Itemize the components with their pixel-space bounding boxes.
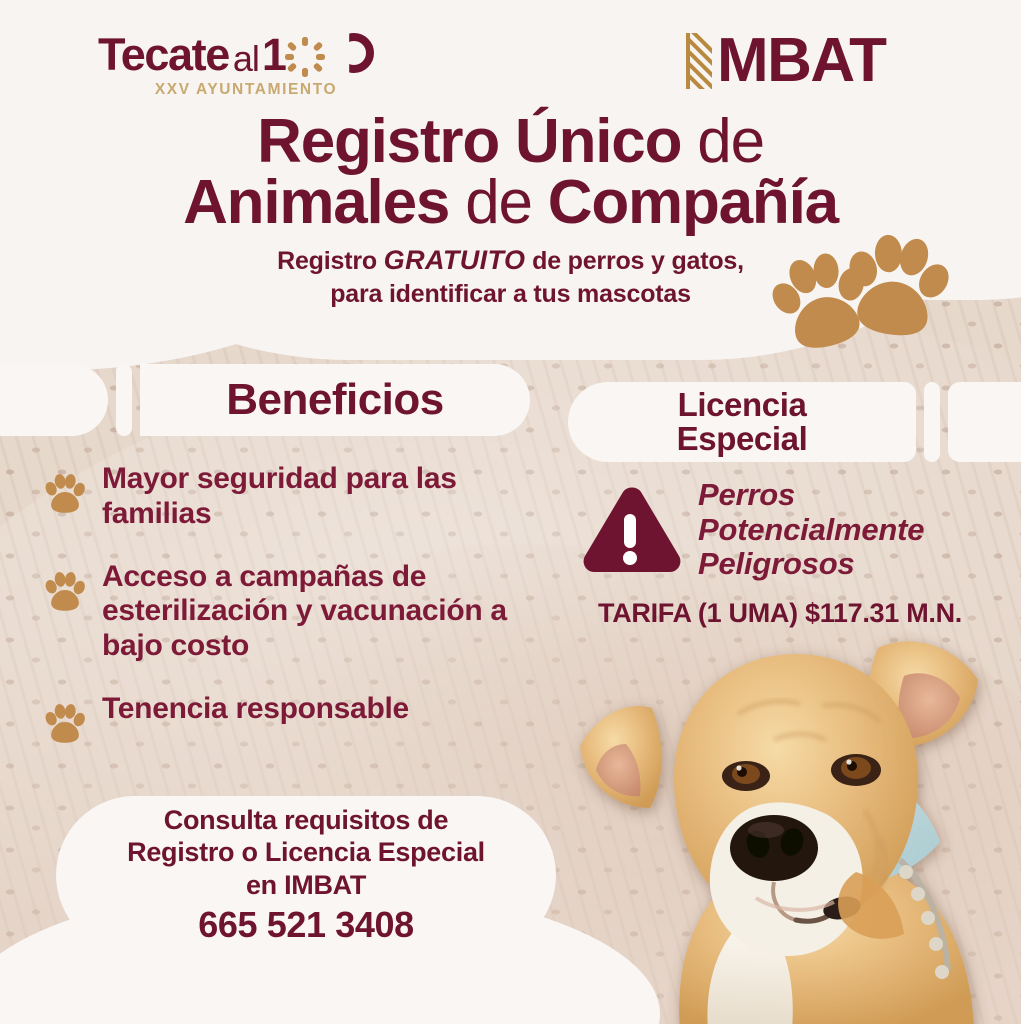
contact-line3: en IMBAT [246, 869, 366, 901]
headline-line2-bold-a: Animales [183, 168, 449, 237]
contact-phone[interactable]: 665 521 3408 [198, 904, 413, 946]
tecate-logo-subtitle: XXV AYUNTAMIENTO [98, 81, 368, 99]
imbat-logo-text: MBAT [717, 30, 885, 92]
beneficios-band-segment-1 [0, 364, 108, 436]
contact-line3-strong: IMBAT [284, 870, 366, 900]
poster-root: Tecate al 1 XX [0, 0, 1021, 1024]
licencia-band-segment-2 [924, 382, 940, 462]
license-heading-line1: Perros [698, 477, 795, 512]
paw-print-icon [44, 568, 86, 612]
headline-line2-light: de [465, 168, 532, 237]
licencia-title-line2: Especial [677, 422, 808, 456]
list-item: Tenencia responsable [44, 692, 544, 744]
imbat-logo: MBAT [686, 26, 885, 96]
contact-card[interactable]: Consulta requisitos de Registro o Licenc… [56, 796, 556, 954]
headline-line1-light: de [697, 107, 764, 176]
contact-line2: Registro o Licencia Especial [127, 836, 485, 868]
benefits-list: Mayor seguridad para las familias Acceso… [44, 462, 544, 772]
page-subtitle: Registro GRATUITO de perros y gatos, par… [0, 243, 1021, 310]
contact-line3-pre: en [246, 870, 277, 900]
beneficios-band-segment-2 [116, 364, 132, 436]
subtitle-post: de perros y gatos, [532, 247, 744, 275]
licencia-title: Licencia Especial [568, 382, 916, 462]
warning-triangle-icon [576, 484, 684, 586]
list-item: Mayor seguridad para las familias [44, 462, 544, 532]
licencia-title-line1: Licencia [678, 388, 807, 422]
tecate-logo-word: Tecate [98, 32, 229, 77]
sun-burst-icon [283, 35, 327, 79]
paw-print-icon [44, 700, 86, 744]
subtitle-pre: Registro [277, 247, 377, 275]
list-item: Acceso a campañas de esterilización y va… [44, 560, 544, 664]
beneficios-title: Beneficios [140, 364, 530, 436]
licencia-band-segment-3 [948, 382, 1021, 462]
page-title: Registro Único de Animales de Compañía [0, 112, 1021, 234]
tecate-logo-al: al [233, 41, 259, 77]
headline-line1-bold: Registro Único [257, 107, 681, 176]
benefit-text: Acceso a campañas de esterilización y va… [102, 560, 544, 664]
paw-print-icon [44, 470, 86, 514]
tecate-logo: Tecate al 1 XX [98, 32, 368, 107]
license-heading: Perros Potencialmente Peligrosos [698, 478, 924, 582]
benefit-text: Tenencia responsable [102, 692, 409, 727]
tecate-logo-one: 1 [262, 32, 285, 77]
headline-line2-bold-b: Compañía [548, 168, 838, 237]
tecate-logo-arc [334, 33, 374, 73]
subtitle-line2: para identificar a tus mascotas [0, 278, 1021, 310]
license-heading-line2: Potencialmente [698, 512, 924, 547]
striped-i-icon [686, 33, 712, 89]
benefit-text: Mayor seguridad para las familias [102, 462, 544, 532]
subtitle-emphasis: GRATUITO [384, 245, 526, 275]
license-heading-line3: Peligrosos [698, 546, 855, 581]
contact-line1: Consulta requisitos de [164, 804, 448, 836]
